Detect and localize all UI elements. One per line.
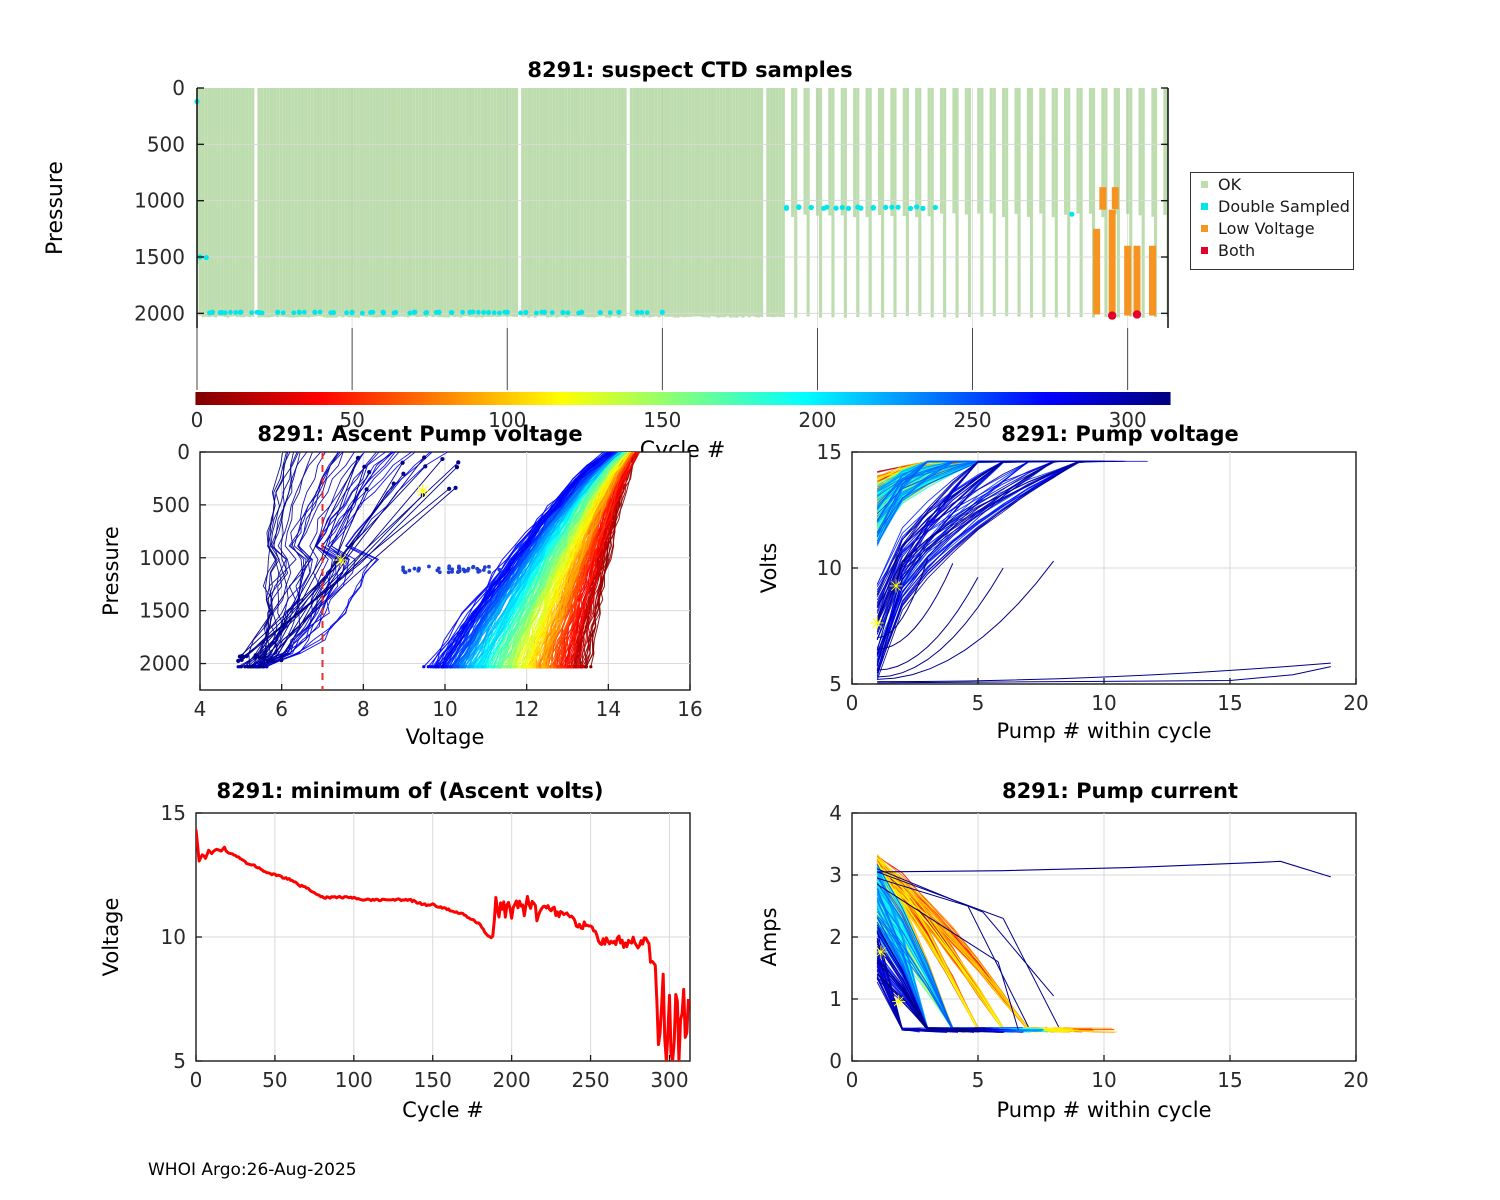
ok-profile-bar [772,88,775,317]
ok-profile-bar [388,88,391,317]
legend-item-low-voltage: Low Voltage [1191,217,1353,239]
ok-profile-bar [695,88,698,316]
ok-profile-bar [441,88,444,317]
ok-profile-bar [782,88,785,317]
ok-profile-bar [952,88,955,213]
profile-endpoint [279,655,283,659]
ok-profile-bar [586,88,589,317]
ok-profile-bar [701,88,704,317]
scatter-point [427,565,431,569]
ok-profile-bar [679,88,682,317]
profile-endpoint [423,464,427,468]
y-tick-label: 4 [829,801,842,825]
ok-profile-bar [329,88,332,318]
low-voltage-bar [1149,246,1156,316]
chart-pump-voltage: ✳✳5101505101520Pump # within cycleVolts [720,418,1440,758]
x-axis-label: Voltage [406,725,485,749]
x-axis-label: Cycle # [402,1098,484,1122]
scatter-point [463,569,467,573]
profile-endpoint [240,665,243,668]
ok-profile-bar [298,88,301,317]
profile-endpoint [250,665,253,668]
ok-profile-bar [965,88,968,215]
legend-item-ok: OK [1191,173,1353,195]
double-sampled-marker [204,255,209,260]
ok-profile-bar [496,88,499,317]
plot-area-pump-voltage: ✳✳5101505101520Pump # within cycleVolts [757,440,1369,743]
low-voltage-bar [1093,229,1100,315]
profile-endpoint [468,665,471,668]
ok-profile-bar [397,88,400,317]
ok-profile-bar [245,88,248,317]
ok-profile-bar [347,88,350,317]
ok-profile-bar [220,88,223,316]
ok-profile-bar [304,88,307,317]
ok-profile-bar [593,88,596,317]
ok-profile-bar [1055,88,1058,317]
ok-profile-bar [236,88,239,317]
y-tick-label: 1 [829,987,842,1011]
ok-profile-bar [726,88,729,316]
double-sampled-marker [481,310,486,315]
legend-label-ok: OK [1218,175,1241,194]
ok-profile-bar [673,88,676,318]
ok-profile-bar [226,88,229,318]
ok-profile-bar [881,88,884,318]
ok-profile-bar [230,88,233,317]
ok-profile-bar [332,88,335,318]
profile-endpoint [367,470,371,474]
ok-profile-bar [596,88,599,317]
ok-profile-bar [614,88,617,316]
ok-profile-bar [931,88,934,317]
ok-profile-bar [394,88,397,317]
double-sampled-marker [523,310,528,315]
ok-profile-bar [1139,88,1142,215]
double-sampled-marker [218,310,223,315]
ok-profile-bar [428,88,431,316]
ok-profile-bar [313,88,316,317]
ok-profile-bar [410,88,413,316]
ok-profile-bar [1030,88,1033,318]
ok-profile-bar [437,88,440,317]
double-sampled-marker [616,310,621,315]
ok-profile-bar [462,88,465,316]
ok-profile-bar [515,88,518,317]
double-sampled-marker [871,205,876,210]
y-tick-label: 2 [829,925,842,949]
ok-profile-bar [903,88,906,216]
profile-endpoint [440,457,444,461]
profile-endpoint [447,487,451,491]
double-sampled-marker [635,310,640,315]
ok-profile-bar [295,88,298,317]
x-tick-label: 20 [1343,691,1368,715]
ok-profile-bar [1039,88,1042,213]
ok-profile-bar [856,88,859,317]
y-axis-label: Voltage [99,898,123,977]
ok-profile-bar [1151,88,1154,217]
x-tick-label: 0 [190,1068,203,1092]
double-sampled-marker [645,310,650,315]
ok-profile-bar [630,88,633,316]
double-sampled-marker [460,310,465,315]
x-tick-label: 14 [596,697,621,721]
ok-profile-bar [670,88,673,317]
ok-profile-bar [717,88,720,318]
ok-profile-bar [403,88,406,317]
ok-profile-bar [766,88,769,317]
double-sampled-marker [914,204,919,209]
double-sampled-marker [492,310,497,315]
ok-profile-bar [233,88,236,316]
footer-text: WHOI Argo:26-Aug-2025 [148,1160,357,1180]
ok-profile-bar [686,88,689,317]
ok-profile-bar [714,88,717,317]
ok-profile-bar [521,88,524,317]
ok-profile-bar [357,88,360,318]
ok-profile-bar [391,88,394,318]
panel-pump-voltage: 8291: Pump voltage ✳✳5101505101520Pump #… [720,418,1440,758]
ok-profile-bar [741,88,744,318]
ok-profile-bar [779,88,782,317]
ok-profile-bar [503,88,506,316]
double-sampled-marker [920,206,925,211]
double-sampled-marker [207,310,212,315]
ok-profile-bar [406,88,409,317]
ok-profile-bar [636,88,639,317]
ok-profile-bar [239,88,242,317]
chart-pump-current: ✳✳0123405101520Pump # within cycleAmps [720,775,1440,1125]
scatter-point [413,567,417,571]
ok-profile-bar [568,88,571,317]
profile-endpoint [258,665,261,668]
legend-item-double-sampled: Double Sampled [1191,195,1353,217]
star-marker: ✳ [873,943,888,964]
ok-profile-bar [493,88,496,317]
profile-endpoint [262,655,266,659]
ok-profile-bar [456,88,459,317]
profile-endpoint [564,665,567,668]
profile-endpoint [557,665,560,668]
ok-profile-bar [378,88,381,317]
profile-endpoint [570,665,573,668]
ok-profile-bar [369,88,372,317]
legend-label-double-sampled: Double Sampled [1218,197,1350,216]
ok-profile-bar [509,88,512,316]
ok-profile-bar [617,88,620,318]
ok-profile-bar [242,88,245,317]
double-sampled-marker [407,311,412,316]
both-marker [1133,310,1141,318]
ok-profile-bar [366,88,369,317]
ok-profile-bar [1005,88,1008,316]
ok-profile-bar [878,88,881,215]
profile-endpoint [244,665,247,668]
ok-profile-bar [354,88,357,318]
x-tick-label: 300 [650,1068,688,1092]
profile-endpoint [589,665,592,668]
ok-profile-bar [574,88,577,317]
profile-endpoint [513,665,516,668]
double-sampled-marker [896,205,901,210]
ok-profile-bar [199,88,202,316]
ok-profile-bar [1014,88,1017,214]
double-sampled-marker [784,206,789,211]
y-tick-label: 15 [161,801,186,825]
ok-profile-bar [968,88,971,317]
profile-endpoint [401,472,405,476]
ok-profile-bar [869,88,872,317]
ok-profile-bar [512,88,515,317]
x-tick-label: 5 [972,1068,985,1092]
ok-profile-bar [589,88,592,317]
double-sampled-marker [1069,212,1074,217]
ok-profile-bar [211,88,214,317]
double-sampled-marker [275,310,280,315]
x-tick-label: 50 [262,1068,287,1092]
ok-profile-bar [751,88,754,316]
plot-area-pump-current: ✳✳0123405101520Pump # within cycleAmps [757,801,1369,1122]
low-voltage-bar [1109,210,1116,316]
low-voltage-bar [1112,187,1119,209]
ok-profile-bar [738,88,741,317]
ok-profile-bar [745,88,748,316]
profile-endpoint [435,665,438,668]
ok-profile-bar [338,88,341,316]
x-tick-label: 200 [493,1068,531,1092]
low-voltage-bar [1124,246,1131,316]
x-tick-label: 10 [1091,1068,1116,1092]
ok-profile-bar [487,88,490,317]
ok-profile-bar [341,88,344,317]
double-sampled-marker [370,310,375,315]
x-tick-label: 15 [1217,1068,1242,1092]
ok-profile-bar [664,88,667,317]
ok-profile-bar [735,88,738,318]
double-sampled-marker [933,205,938,210]
ok-profile-bar [524,88,527,316]
star-marker: ✳ [415,481,431,503]
ok-profile-bar [906,88,909,316]
x-tick-label: 8 [357,697,370,721]
legend-swatch-double-sampled [1201,203,1208,210]
ok-profile-bar [282,88,285,317]
ok-profile-bar [676,88,679,318]
ok-profile-bar [605,88,608,318]
ok-profile-bar [893,88,896,317]
ok-band [195,88,1169,318]
double-sampled-marker [660,310,665,315]
double-sampled-marker [560,310,565,315]
double-sampled-marker [312,310,317,315]
profile-endpoint [546,665,549,668]
ok-profile-bar [261,88,264,317]
ok-profile-bar [208,88,211,317]
ok-profile-bar [382,88,385,317]
ok-profile-bar [748,88,751,317]
scatter-point [404,570,408,574]
ok-profile-bar [1076,88,1079,214]
y-tick-label: 5 [173,1049,186,1073]
ok-profile-bar [335,88,338,317]
ok-profile-bar [769,88,772,317]
x-axis-label: Pump # within cycle [997,1098,1212,1122]
double-sampled-marker [423,311,428,316]
ok-profile-bar [1018,88,1021,317]
double-sampled-marker [497,311,502,316]
ok-profile-bar [608,88,611,318]
double-sampled-marker [260,310,265,315]
ok-profile-bar [450,88,453,316]
ok-profile-bar [729,88,732,318]
profile-endpoint [258,656,262,660]
double-sampled-marker [239,310,244,315]
ok-profile-bar [248,88,251,317]
profile-endpoint [577,665,580,668]
ok-profile-bar [915,88,918,217]
ok-profile-bar [776,88,779,317]
legend-label-low-voltage: Low Voltage [1218,219,1315,238]
ok-profile-bar [990,88,993,213]
double-sampled-marker [486,310,491,315]
x-tick-label: 16 [677,697,702,721]
y-tick-label: 2000 [134,301,185,325]
ok-profile-bar [279,88,282,317]
ok-profile-bar [571,88,574,316]
ok-profile-bar [757,88,760,318]
ok-profile-bar [459,88,462,317]
ok-profile-bar [202,88,205,317]
double-sampled-marker [550,310,555,315]
panel-suspect-ctd-samples: 8291: suspect CTD samples 05001000150020… [0,50,1200,410]
y-tick-label: 5 [829,672,842,696]
scatter-point [438,570,442,574]
ok-profile-bar [602,88,605,316]
double-sampled-marker [223,310,228,315]
ok-profile-bar [444,88,447,317]
ok-profile-bar [844,88,847,318]
double-sampled-marker [908,206,913,211]
both-marker [1108,311,1116,319]
ok-profile-bar [375,88,378,318]
ok-profile-bar [326,88,329,318]
double-sampled-marker [576,311,581,316]
panel-ascent-pump-voltage: 8291: Ascent Pump voltage ✳✳050010001500… [0,418,720,758]
ok-profile-bar [611,88,614,316]
profile-endpoint [262,665,265,668]
double-sampled-marker [233,310,238,315]
scatter-point [487,570,491,574]
plot-area-minimum-ascent-volts: 51015050100150200250300Cycle #Voltage [99,801,690,1122]
profile-endpoint [581,665,584,668]
y-axis-label: Amps [757,907,781,966]
profile-endpoint [356,456,360,460]
scatter-point [471,565,475,569]
ok-profile-bar [431,88,434,317]
chart-ascent-pump-voltage: ✳✳050010001500200046810121416VoltagePres… [0,418,720,758]
ok-profile-bar [683,88,686,317]
ok-profile-bar [583,88,586,317]
x-tick-label: 150 [414,1068,452,1092]
ok-profile-bar [301,88,304,317]
profile-endpoint [240,658,244,662]
ok-profile-bar [310,88,313,317]
ok-profile-bar [416,88,419,317]
profile-endpoint [266,659,270,663]
ok-profile-bar [413,88,416,316]
y-tick-label: 10 [817,556,842,580]
ok-profile-bar [1002,88,1005,217]
ok-profile-bar [754,88,757,317]
double-sampled-marker [434,310,439,315]
ok-profile-bar [552,88,555,317]
profile-endpoint [271,659,275,663]
ok-profile-bar [363,88,366,317]
ok-profile-bar [285,88,288,317]
profile-endpoint [422,455,426,459]
ok-profile-bar [599,88,602,317]
ok-profile-bar [490,88,493,317]
double-sampled-marker [450,310,455,315]
colorbar-segment [1166,392,1170,405]
ok-profile-bar [791,88,794,217]
ok-profile-bar [360,88,363,316]
ok-profile-bar [540,88,543,316]
ok-profile-bar [546,88,549,318]
profile-endpoint [365,487,369,491]
ok-profile-bar [1027,88,1030,217]
double-sampled-marker [840,205,845,210]
y-axis-label: Volts [757,543,781,594]
ok-profile-bar [624,88,627,316]
double-sampled-marker [254,310,259,315]
ok-profile-bar [320,88,323,316]
ok-profile-bar [980,88,983,317]
ok-profile-bar [710,88,713,316]
profile-endpoint [521,665,524,668]
double-sampled-marker [796,205,801,210]
ok-profile-bar [223,88,226,317]
legend-item-both: Both [1191,239,1353,261]
profile-endpoint [536,665,539,668]
ok-profile-bar [760,88,763,317]
double-sampled-marker [344,310,349,315]
double-sampled-marker [534,311,539,316]
ok-profile-bar [943,88,946,317]
low-voltage-bar [1133,246,1140,315]
ok-profile-bar [828,88,831,215]
y-tick-label: 0 [829,1049,842,1073]
ok-profile-bar [667,88,670,317]
ok-profile-bar [481,88,484,318]
ok-profile-bar [853,88,856,217]
ok-profile-bar [704,88,707,317]
ok-profile-bar [273,88,276,317]
plot-area-suspect-ctd: 0500100015002000050100150200250300Cycle … [43,76,1171,463]
ok-profile-bar [214,88,217,317]
scatter-point [457,569,461,573]
chart-minimum-ascent-volts: 51015050100150200250300Cycle #Voltage [0,775,720,1125]
x-tick-label: 100 [335,1068,373,1092]
ok-profile-bar [720,88,723,317]
y-tick-label: 1500 [139,599,190,623]
ok-profile-bar [264,88,267,317]
ok-profile-bar [558,88,561,317]
ok-profile-bar [543,88,546,316]
ok-profile-bar [400,88,403,317]
profile-endpoint [456,460,460,464]
